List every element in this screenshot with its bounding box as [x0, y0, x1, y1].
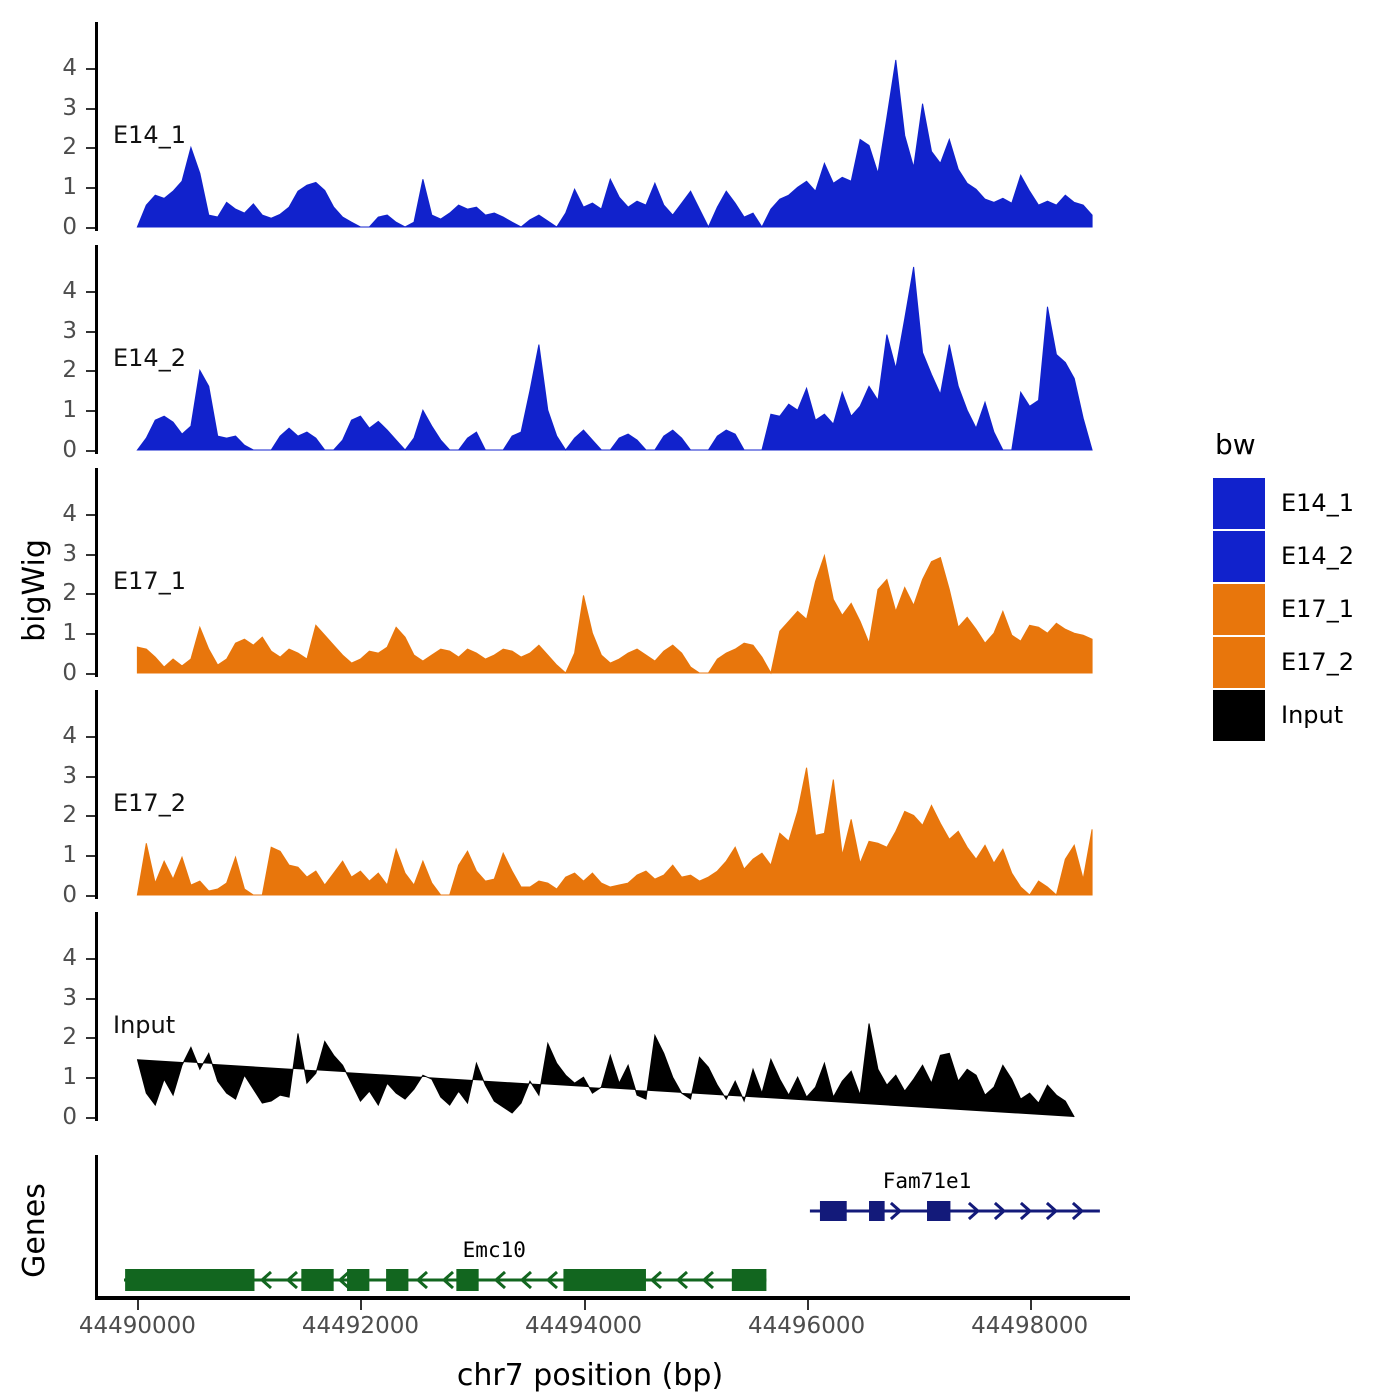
x-tick: [807, 1300, 809, 1310]
legend-items: E14_1E14_2E17_1E17_2Input: [1213, 477, 1393, 741]
legend-item-e17_2[interactable]: E17_2: [1213, 636, 1393, 688]
legend-title: bw: [1215, 428, 1393, 461]
track-panel-e14_1: 01234E14_1: [0, 22, 1140, 233]
exon-box: [125, 1269, 254, 1291]
legend-swatch-e17_1: [1213, 584, 1265, 635]
x-tick-label: 44490000: [79, 1313, 196, 1339]
legend-label: E14_2: [1281, 542, 1354, 570]
legend-swatch-input: [1213, 690, 1265, 741]
legend-label: E14_1: [1281, 489, 1354, 517]
legend-swatch-e14_2: [1213, 531, 1265, 582]
track-area-e17_1: [0, 468, 1140, 679]
track-area-e14_2: [0, 245, 1140, 456]
x-axis-line: [95, 1296, 1130, 1300]
x-tick-label: 44498000: [971, 1313, 1088, 1339]
x-tick-label: 44494000: [525, 1313, 642, 1339]
exon-box: [732, 1269, 767, 1291]
genes-panel-title: Genes: [14, 1150, 54, 1310]
exon-box: [869, 1201, 885, 1221]
exon-box: [301, 1269, 333, 1291]
gene-model-emc10[interactable]: [124, 1269, 766, 1291]
exon-box: [347, 1269, 369, 1291]
gene-label-emc10: Emc10: [463, 1238, 526, 1262]
exon-box: [927, 1201, 950, 1221]
genes-svg: [95, 1155, 1135, 1300]
legend-swatch-e17_2: [1213, 637, 1265, 688]
exon-box: [456, 1269, 478, 1291]
x-axis-title: chr7 position (bp): [0, 1358, 1180, 1393]
legend: bw E14_1E14_2E17_1E17_2Input: [1213, 428, 1393, 742]
exon-box: [820, 1201, 847, 1221]
legend-label: E17_2: [1281, 648, 1354, 676]
legend-item-input[interactable]: Input: [1213, 689, 1393, 741]
track-panel-e14_2: 01234E14_2: [0, 245, 1140, 456]
legend-swatch-e14_1: [1213, 478, 1265, 529]
x-tick-label: 44492000: [302, 1313, 419, 1339]
x-tick: [1030, 1300, 1032, 1310]
x-tick: [137, 1300, 139, 1310]
x-tick-label: 44496000: [748, 1313, 865, 1339]
track-panel-input: 01234Input: [0, 912, 1140, 1123]
track-area-e17_2: [0, 690, 1140, 901]
genes-axis-line: [95, 1155, 98, 1300]
legend-label: Input: [1281, 701, 1343, 729]
genes-track-panel: Fam71e1Emc10: [95, 1155, 1135, 1300]
track-area-input: [0, 912, 1140, 1123]
track-panel-e17_2: 01234E17_2: [0, 690, 1140, 901]
legend-label: E17_1: [1281, 595, 1354, 623]
track-area-e14_1: [0, 22, 1140, 233]
gene-model-fam71e1[interactable]: [810, 1201, 1100, 1221]
legend-item-e17_1[interactable]: E17_1: [1213, 583, 1393, 635]
legend-item-e14_1[interactable]: E14_1: [1213, 477, 1393, 529]
track-panel-e17_1: 01234E17_1: [0, 468, 1140, 679]
legend-item-e14_2[interactable]: E14_2: [1213, 530, 1393, 582]
x-tick: [584, 1300, 586, 1310]
gene-label-fam71e1: Fam71e1: [883, 1169, 972, 1193]
x-tick: [360, 1300, 362, 1310]
exon-box: [386, 1269, 408, 1291]
exon-box: [563, 1269, 646, 1291]
